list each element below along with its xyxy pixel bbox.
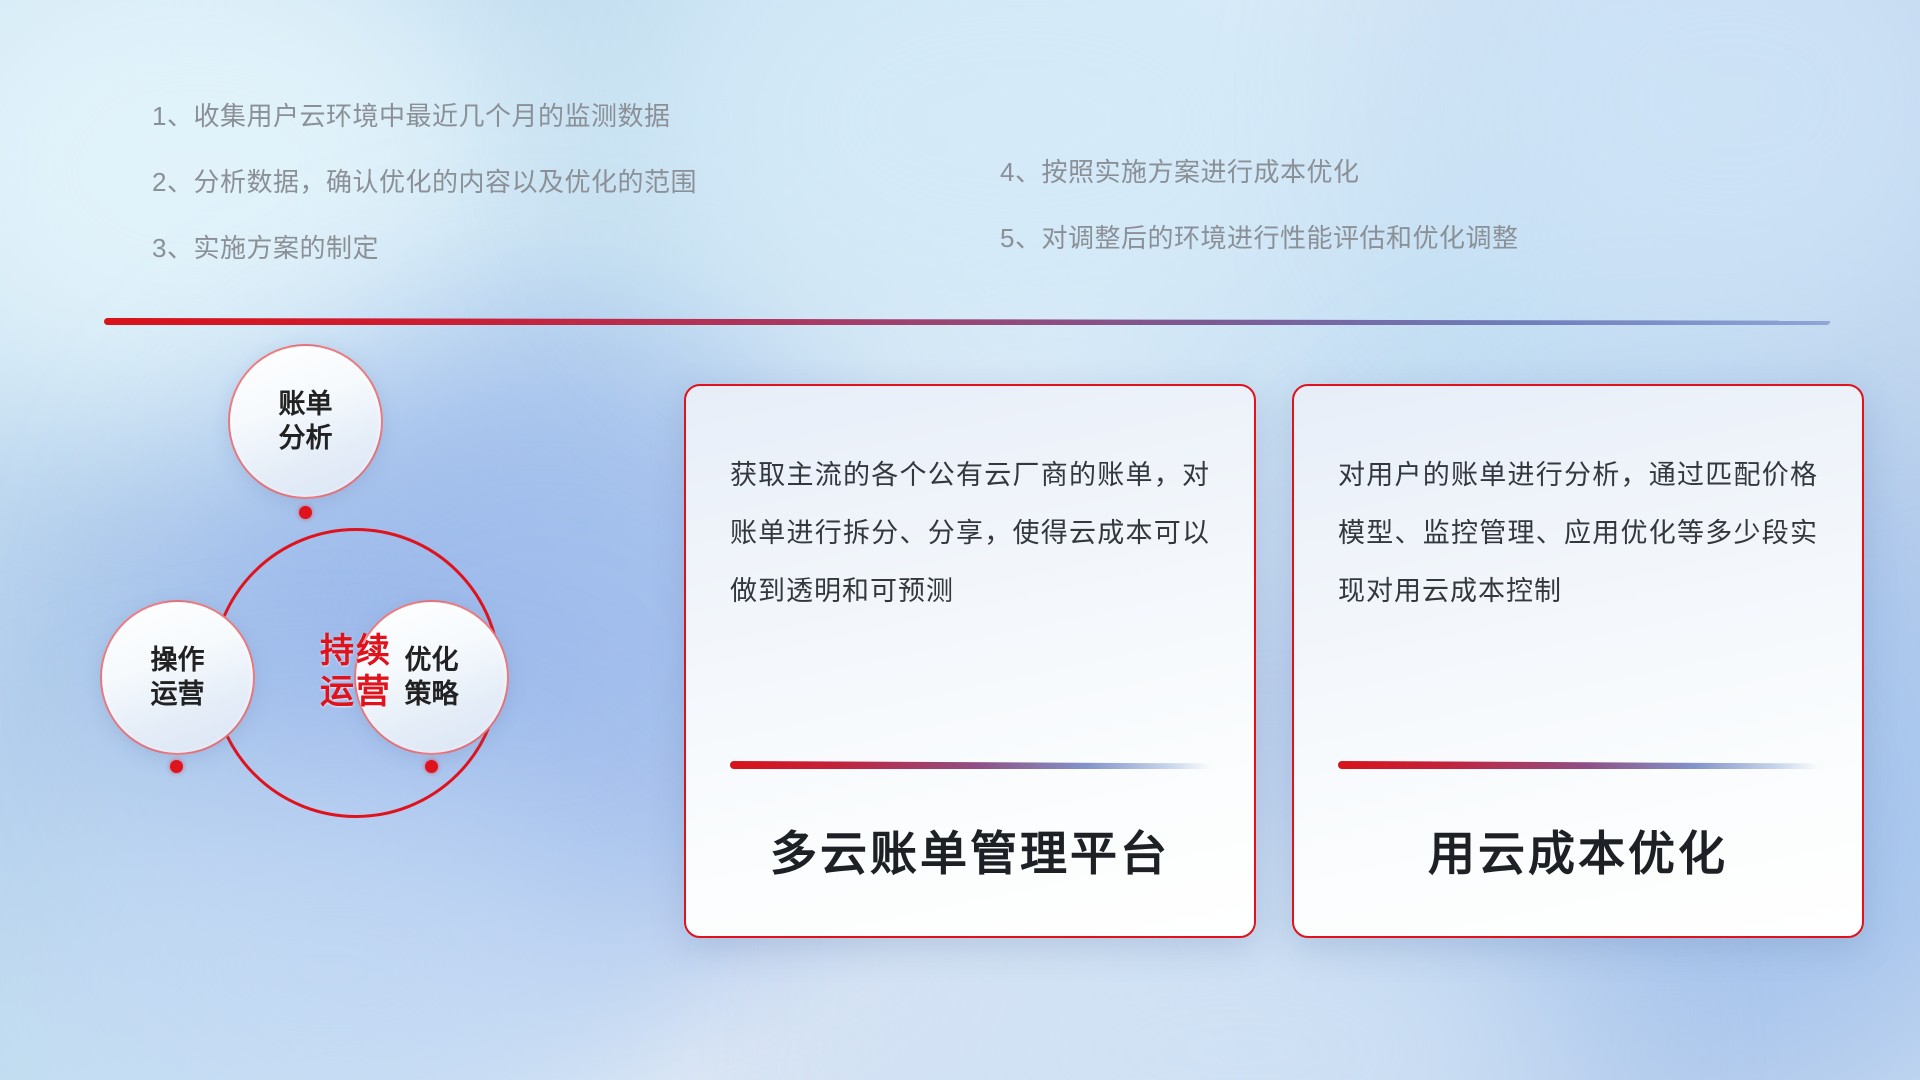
card-title: 多云账单管理平台 [730,769,1210,936]
section-divider-rule [104,318,1830,325]
venn-bubble-label: 操作 运营 [151,644,205,712]
venn-node-dot-right-icon [425,760,438,773]
venn-diagram: 账单 分析 操作 运营 优化 策略 持续 运营 [96,360,566,940]
venn-bubble-line1: 操作 [151,645,205,675]
venn-bubble-label: 账单 分析 [279,388,333,456]
venn-bubble-line2: 分析 [279,423,333,453]
card-title: 用云成本优化 [1338,769,1818,936]
card-divider [730,761,1210,769]
venn-node-dot-top-icon [299,506,312,519]
feature-card-multi-cloud-billing-platform[interactable]: 获取主流的各个公有云厂商的账单，对账单进行拆分、分享，使得云成本可以做到透明和可… [684,384,1256,938]
card-body-text: 获取主流的各个公有云厂商的账单，对账单进行拆分、分享，使得云成本可以做到透明和可… [730,446,1210,620]
card-divider [1338,761,1818,769]
bullet-item-1: 1、收集用户云环境中最近几个月的监测数据 [152,96,697,133]
bullet-list-right: 4、按照实施方案进行成本优化 5、对调整后的环境进行性能评估和优化调整 [1000,152,1518,284]
bullet-item-4: 4、按照实施方案进行成本优化 [1000,152,1518,189]
venn-center-label: 持续 运营 [211,592,501,752]
bullet-item-3: 3、实施方案的制定 [152,228,697,265]
card-body-text: 对用户的账单进行分析，通过匹配价格模型、监控管理、应用优化等多少段实现对用云成本… [1338,446,1818,620]
venn-center-line1: 持续 [320,632,392,670]
venn-center-line2: 运营 [320,673,392,711]
bullet-list-left: 1、收集用户云环境中最近几个月的监测数据 2、分析数据，确认优化的内容以及优化的… [152,96,697,294]
venn-bubble-line1: 账单 [279,389,333,419]
slide-canvas: 1、收集用户云环境中最近几个月的监测数据 2、分析数据，确认优化的内容以及优化的… [0,0,1920,1080]
feature-card-cloud-cost-optimization[interactable]: 对用户的账单进行分析，通过匹配价格模型、监控管理、应用优化等多少段实现对用云成本… [1292,384,1864,938]
bullet-item-5: 5、对调整后的环境进行性能评估和优化调整 [1000,218,1518,255]
venn-node-dot-left-icon [170,760,183,773]
venn-bubble-line2: 运营 [151,679,205,709]
bullet-item-2: 2、分析数据，确认优化的内容以及优化的范围 [152,162,697,199]
venn-bubble-billing-analysis[interactable]: 账单 分析 [228,344,383,499]
